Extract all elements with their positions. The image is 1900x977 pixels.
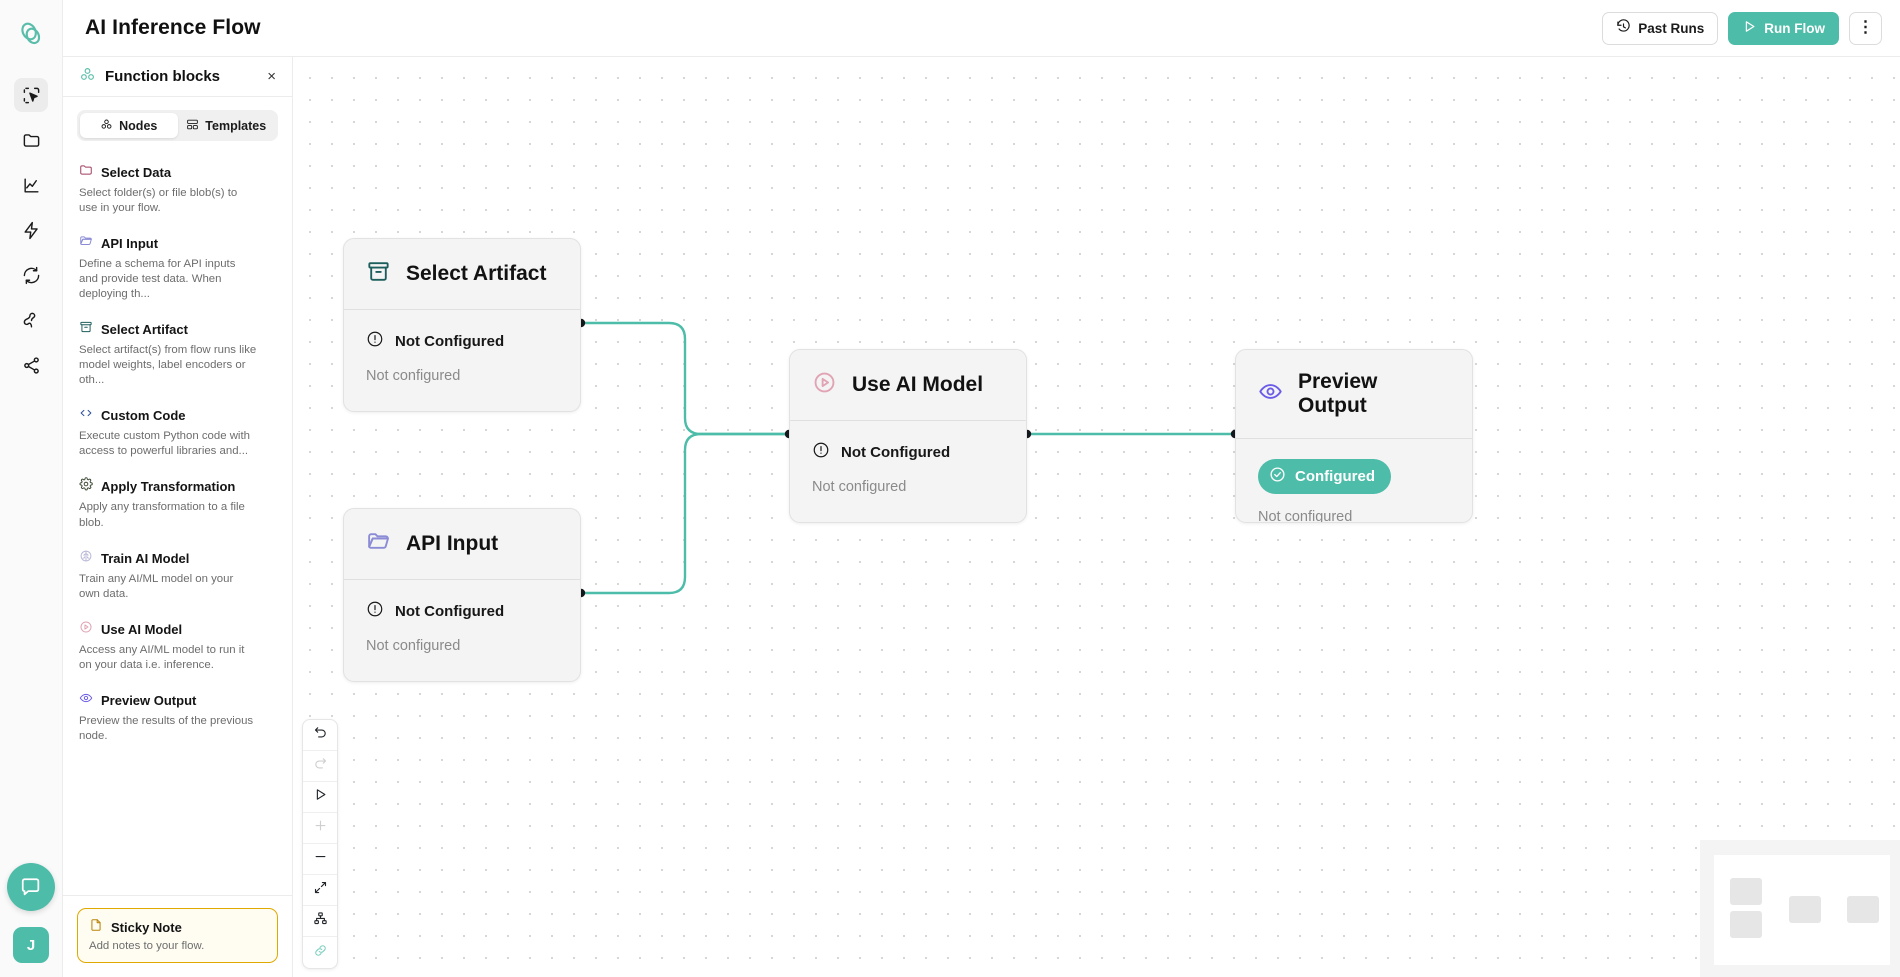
note-icon [89, 918, 103, 937]
rail-item-analytics[interactable] [14, 168, 48, 202]
panel-header: Function blocks × [63, 57, 292, 97]
canvas-minimap[interactable] [1700, 840, 1900, 977]
node-block-item[interactable]: Use AI ModelAccess any AI/ML model to ru… [63, 612, 292, 683]
node-block-label: Use AI Model [101, 622, 182, 637]
play-icon [1742, 19, 1757, 37]
templates-icon [186, 118, 199, 134]
zoom-in-icon [313, 818, 328, 838]
tab-nodes[interactable]: Nodes [80, 113, 178, 138]
history-icon [1616, 19, 1631, 37]
play-circle-icon [79, 620, 93, 639]
node-block-desc: Select folder(s) or file blob(s) to use … [79, 186, 257, 216]
node-block-label: API Input [101, 236, 158, 251]
archive-icon [79, 320, 93, 339]
canvas-redo-button [303, 751, 337, 782]
node-block-desc: Preview the results of the previous node… [79, 714, 257, 744]
app-logo[interactable] [11, 14, 51, 54]
chat-support-button[interactable] [7, 863, 55, 911]
canvas-link-button[interactable] [303, 937, 337, 968]
node-block-item[interactable]: Custom CodeExecute custom Python code wi… [63, 398, 292, 469]
status-badge: Not Configured [812, 441, 1004, 464]
node-block-item[interactable]: Apply TransformationApply any transforma… [63, 469, 292, 540]
play-circle-icon [812, 370, 837, 400]
flow-node[interactable]: Select ArtifactNot ConfiguredNot configu… [343, 238, 581, 412]
flow-node-subtitle: Not configured [1258, 509, 1450, 523]
canvas-fit-view-button[interactable] [303, 875, 337, 906]
status-badge: Configured [1258, 459, 1391, 494]
flow-node-header: Preview Output [1236, 350, 1472, 439]
canvas-zoom-out-button[interactable] [303, 844, 337, 875]
node-block-label: Select Data [101, 165, 171, 180]
flow-node-subtitle: Not configured [366, 638, 558, 654]
rail-item-sync[interactable] [14, 258, 48, 292]
canvas-undo-button[interactable] [303, 720, 337, 751]
status-label: Configured [1295, 468, 1375, 485]
rail-item-files[interactable] [14, 123, 48, 157]
rail-bottom-actions: J [7, 863, 55, 963]
node-block-label: Custom Code [101, 408, 186, 423]
flow-node[interactable]: Preview OutputConfiguredNot configured [1235, 349, 1473, 523]
folder-icon [79, 163, 93, 182]
warning-circle-icon [366, 330, 384, 353]
status-label: Not Configured [395, 333, 504, 350]
folder-open-icon [366, 529, 391, 559]
redo-icon [313, 756, 328, 776]
node-block-label: Train AI Model [101, 551, 189, 566]
close-icon[interactable]: × [267, 69, 276, 84]
sticky-note-block[interactable]: Sticky Note Add notes to your flow. [77, 908, 278, 963]
more-options-button[interactable]: ⋮ [1849, 12, 1882, 45]
archive-icon [366, 259, 391, 289]
rail-item-select-tool[interactable] [14, 78, 48, 112]
top-bar: AI Inference Flow Past Runs Run Flow [63, 0, 1900, 57]
top-bar-actions: Past Runs Run Flow ⋮ [1602, 12, 1882, 45]
code-icon [79, 406, 93, 425]
tab-templates[interactable]: Templates [178, 113, 276, 138]
flow-node-header: Use AI Model [790, 350, 1026, 421]
flow-node-title: Use AI Model [852, 373, 983, 397]
node-block-label: Select Artifact [101, 322, 188, 337]
flow-canvas[interactable]: Select ArtifactNot ConfiguredNot configu… [293, 57, 1900, 977]
flow-node-body: ConfiguredNot configured [1236, 439, 1472, 523]
flow-node-title: Preview Output [1298, 370, 1450, 418]
node-block-desc: Execute custom Python code with access t… [79, 429, 257, 459]
canvas-run-button[interactable] [303, 782, 337, 813]
warning-circle-icon [366, 600, 384, 623]
minimap-viewport [1714, 855, 1890, 965]
past-runs-label: Past Runs [1638, 21, 1704, 36]
brain-icon [79, 549, 93, 568]
status-label: Not Configured [395, 603, 504, 620]
panel-tabs: Nodes Templates [63, 97, 292, 149]
sticky-note-desc: Add notes to your flow. [89, 940, 266, 952]
node-block-item[interactable]: Train AI ModelTrain any AI/ML model on y… [63, 541, 292, 612]
rail-item-share[interactable] [14, 348, 48, 382]
node-block-item[interactable]: API InputDefine a schema for API inputs … [63, 226, 292, 312]
tab-nodes-label: Nodes [119, 119, 157, 133]
minimap-node [1847, 896, 1879, 923]
node-block-item[interactable]: Select ArtifactSelect artifact(s) from f… [63, 312, 292, 398]
minimap-node [1789, 896, 1821, 923]
folder-open-icon [79, 234, 93, 253]
function-blocks-panel: Function blocks × Nodes [63, 57, 293, 977]
gear-icon [79, 477, 93, 496]
past-runs-button[interactable]: Past Runs [1602, 12, 1718, 45]
eye-icon [1258, 379, 1283, 409]
undo-icon [313, 725, 328, 745]
status-badge: Not Configured [366, 600, 558, 623]
run-icon [313, 787, 328, 807]
run-flow-label: Run Flow [1764, 21, 1825, 36]
node-block-item[interactable]: Select DataSelect folder(s) or file blob… [63, 155, 292, 226]
flow-node-title: Select Artifact [406, 262, 546, 286]
flow-node-body: Not ConfiguredNot configured [344, 580, 580, 676]
node-block-desc: Select artifact(s) from flow runs like m… [79, 343, 257, 388]
flow-node-subtitle: Not configured [812, 479, 1004, 495]
zoom-out-icon [313, 849, 328, 869]
rail-item-workflows[interactable] [14, 303, 48, 337]
node-blocks-list: Select DataSelect folder(s) or file blob… [63, 149, 292, 895]
blocks-icon [79, 66, 96, 88]
node-block-desc: Train any AI/ML model on your own data. [79, 572, 257, 602]
user-avatar[interactable]: J [13, 927, 49, 963]
left-icon-rail: J [0, 0, 63, 977]
flow-node[interactable]: API InputNot ConfiguredNot configured [343, 508, 581, 682]
flow-node-subtitle: Not configured [366, 368, 558, 384]
canvas-zoom-in-button [303, 813, 337, 844]
panel-title: Function blocks [105, 68, 220, 85]
sticky-note-label: Sticky Note [111, 920, 182, 935]
link-icon [313, 943, 328, 963]
run-flow-button[interactable]: Run Flow [1728, 12, 1839, 45]
minimap-node [1730, 911, 1762, 938]
node-block-desc: Define a schema for API inputs and provi… [79, 257, 257, 302]
check-circle-icon [1269, 466, 1286, 487]
canvas-toolbar [302, 719, 338, 969]
flow-node-title: API Input [406, 532, 498, 556]
auto-layout-icon [313, 911, 328, 931]
flow-node-header: API Input [344, 509, 580, 580]
flow-node-body: Not ConfiguredNot configured [790, 421, 1026, 517]
node-block-item[interactable]: Preview OutputPreview the results of the… [63, 683, 292, 754]
vertical-dots-icon: ⋮ [1858, 20, 1874, 36]
page-title: AI Inference Flow [85, 16, 261, 40]
canvas-auto-layout-button[interactable] [303, 906, 337, 937]
tab-templates-label: Templates [205, 119, 266, 133]
warning-circle-icon [812, 441, 830, 464]
flow-node-body: Not ConfiguredNot configured [344, 310, 580, 406]
rail-item-automations[interactable] [14, 213, 48, 247]
eye-icon [79, 691, 93, 710]
node-block-desc: Apply any transformation to a file blob. [79, 500, 257, 530]
panel-footer: Sticky Note Add notes to your flow. [63, 895, 292, 977]
status-badge: Not Configured [366, 330, 558, 353]
node-block-label: Apply Transformation [101, 479, 235, 494]
nodes-icon [100, 118, 113, 134]
fit-view-icon [313, 880, 328, 900]
node-block-desc: Access any AI/ML model to run it on your… [79, 643, 257, 673]
flow-node-header: Select Artifact [344, 239, 580, 310]
flow-node[interactable]: Use AI ModelNot ConfiguredNot configured [789, 349, 1027, 523]
minimap-node [1730, 878, 1762, 905]
rail-items [14, 78, 48, 382]
status-label: Not Configured [841, 444, 950, 461]
node-block-label: Preview Output [101, 693, 196, 708]
